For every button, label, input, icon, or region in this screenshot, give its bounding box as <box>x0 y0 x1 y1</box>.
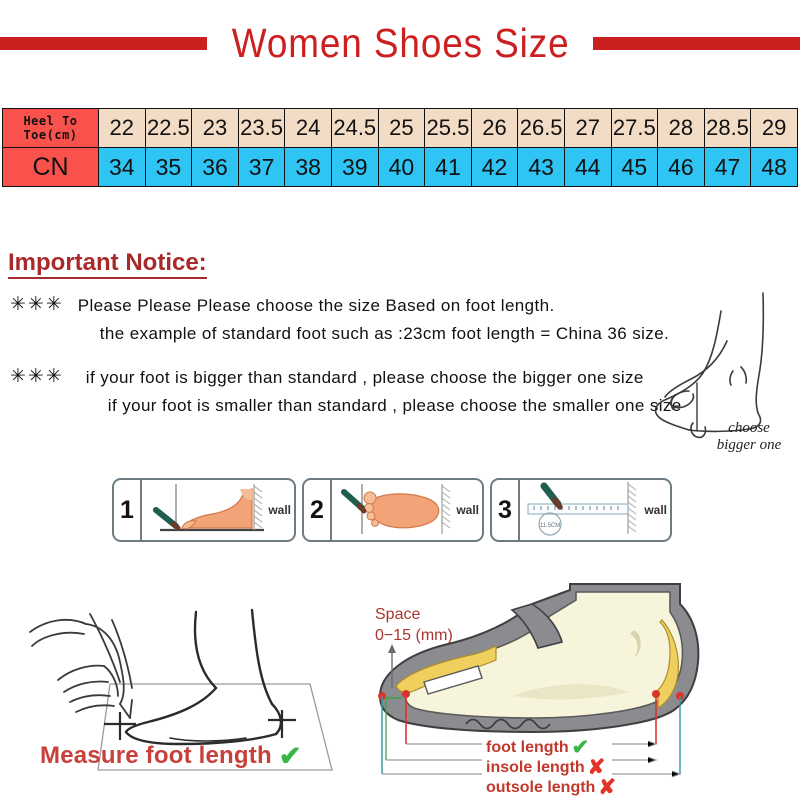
cell-cm: 28.5 <box>704 109 751 148</box>
cell-cn: 39 <box>331 148 378 187</box>
page-title: Women Shoes Size <box>232 21 570 65</box>
caption-line-1: choose <box>694 420 800 437</box>
notice-item: ✳✳✳ Please Please Please choose the size… <box>10 292 690 348</box>
size-chart-page: Women Shoes Size Heel To Toe(cm) 22 22.5… <box>0 0 800 800</box>
space-label: Space 0−15 (mm) <box>375 604 453 646</box>
cell-cn: 45 <box>611 148 658 187</box>
cell-cn: 42 <box>471 148 518 187</box>
cell-cm: 25 <box>378 109 425 148</box>
measurement-label: insole length <box>486 759 585 777</box>
cell-cm: 24.5 <box>331 109 378 148</box>
cell-cn: 40 <box>378 148 425 187</box>
step-3-illustration: 11.5CM wall <box>520 480 670 540</box>
notice-item: ✳✳✳ if your foot is bigger than standard… <box>10 364 690 420</box>
notice-line: if your foot is smaller than standard , … <box>86 392 682 420</box>
row-header-cn: CN <box>3 148 99 187</box>
cell-cm: 27 <box>564 109 611 148</box>
space-label-line-1: Space <box>375 604 453 625</box>
notice-line: if your foot is bigger than standard , p… <box>86 364 682 392</box>
measurement-label: outsole length <box>486 779 595 797</box>
measure-caption: Measure foot length ✔ <box>40 742 301 770</box>
check-icon: ✔ <box>279 744 302 768</box>
cell-cm: 22 <box>99 109 146 148</box>
step-1-illustration: wall <box>142 480 294 540</box>
cell-cn: 44 <box>564 148 611 187</box>
cell-cm: 26.5 <box>518 109 565 148</box>
cell-cm: 27.5 <box>611 109 658 148</box>
cell-cn: 34 <box>99 148 146 187</box>
cell-cn: 43 <box>518 148 565 187</box>
cell-cn: 35 <box>145 148 192 187</box>
table-row-cn: CN 34 35 36 37 38 39 40 41 42 43 44 45 4… <box>3 148 798 187</box>
cell-cn: 47 <box>704 148 751 187</box>
measurement-row-insole-length: insole length ✘ <box>486 758 616 778</box>
notice-block: ✳✳✳ Please Please Please choose the size… <box>10 292 690 432</box>
check-icon: ✔ <box>572 740 590 756</box>
title-rule-right <box>593 37 800 50</box>
step-panel-1: 1 <box>112 478 296 542</box>
cell-cm: 24 <box>285 109 332 148</box>
space-label-line-2: 0−15 (mm) <box>375 625 453 646</box>
cell-cm: 23 <box>192 109 239 148</box>
notice-line: Please Please Please choose the size Bas… <box>78 292 669 320</box>
measurement-steps: 1 <box>112 478 672 542</box>
cell-cn: 41 <box>425 148 472 187</box>
cell-cm: 25.5 <box>425 109 472 148</box>
cell-cn: 48 <box>751 148 798 187</box>
cell-cm: 26 <box>471 109 518 148</box>
measurement-label: foot length <box>486 739 569 757</box>
row-header-heel-to-toe: Heel To Toe(cm) <box>3 109 99 148</box>
page-title-row: Women Shoes Size <box>0 18 800 68</box>
asterisk-bullet-icon: ✳✳✳ <box>10 292 64 317</box>
cross-icon: ✘ <box>588 760 606 776</box>
cross-icon: ✘ <box>598 780 616 796</box>
wall-label: wall <box>644 503 667 517</box>
measure-caption-text: Measure foot length <box>40 742 272 770</box>
ruler-value: 11.5CM <box>540 523 561 529</box>
notice-line: the example of standard foot such as :23… <box>78 320 669 348</box>
size-table: Heel To Toe(cm) 22 22.5 23 23.5 24 24.5 … <box>2 108 798 187</box>
cell-cm: 22.5 <box>145 109 192 148</box>
step-number: 2 <box>304 480 332 540</box>
cell-cn: 46 <box>658 148 705 187</box>
caption-line-2: bigger one <box>694 437 800 454</box>
wall-label: wall <box>268 503 291 517</box>
length-measurement-labels: foot length ✔ insole length ✘ outsole le… <box>486 738 616 798</box>
asterisk-bullet-icon: ✳✳✳ <box>10 364 64 389</box>
notice-heading: Important Notice: <box>8 250 207 279</box>
title-rule-left <box>0 37 207 50</box>
wall-label: wall <box>456 503 479 517</box>
cell-cn: 36 <box>192 148 239 187</box>
step-2-illustration: wall <box>332 480 482 540</box>
table-row-cm: Heel To Toe(cm) 22 22.5 23 23.5 24 24.5 … <box>3 109 798 148</box>
cell-cn: 37 <box>238 148 285 187</box>
cell-cm: 29 <box>751 109 798 148</box>
cell-cn: 38 <box>285 148 332 187</box>
measurement-row-outsole-length: outsole length ✘ <box>486 778 616 798</box>
step-number: 3 <box>492 480 520 540</box>
step-panel-2: 2 <box>302 478 484 542</box>
step-panel-3: 3 <box>490 478 672 542</box>
foot-sketch-caption: choose bigger one <box>694 420 800 454</box>
step-number: 1 <box>114 480 142 540</box>
cell-cm: 23.5 <box>238 109 285 148</box>
measurement-row-foot-length: foot length ✔ <box>486 738 616 758</box>
cell-cm: 28 <box>658 109 705 148</box>
